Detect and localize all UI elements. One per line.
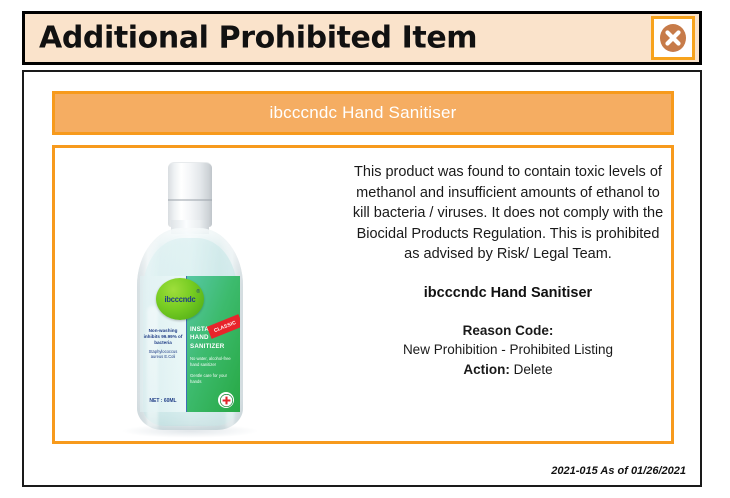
label-net-volume: NET : 60ML	[142, 398, 184, 405]
action-value: Delete	[514, 362, 553, 377]
details-column: This product was found to contain toxic …	[351, 162, 665, 380]
close-circle-x-icon	[658, 23, 688, 53]
label-claim-sub: Staphylococcus aureus E.Coli	[142, 349, 184, 360]
brand-logo-text: ibcccndc	[165, 294, 196, 303]
brand-logo-icon: ibcccndc ®	[156, 278, 204, 320]
medical-cross-icon	[218, 392, 234, 408]
sanitizer-bottle-illustration: ibcccndc ® Non-washing inhibits 99.99% o…	[137, 162, 243, 430]
product-title-banner: ibcccndc Hand Sanitiser	[52, 91, 674, 135]
action-label: Action:	[463, 362, 510, 377]
bottle-body: ibcccndc ® Non-washing inhibits 99.99% o…	[137, 228, 243, 430]
registered-mark: ®	[196, 289, 200, 295]
label-product-sub2: Gentle care for your hands	[190, 373, 238, 385]
label-claim-main: Non-washing inhibits 99.99% of bacteria	[144, 328, 183, 345]
description-text: This product was found to contain toxic …	[351, 162, 665, 265]
reason-block: Reason Code: New Prohibition - Prohibite…	[351, 321, 665, 380]
bottle-cap	[168, 162, 212, 227]
product-image: ibcccndc ® Non-washing inhibits 99.99% o…	[65, 156, 335, 438]
body-panel: ibcccndc ® Non-washing inhibits 99.99% o…	[52, 145, 674, 444]
prohibited-item-slide: Additional Prohibited Item ibcccndc Hand…	[0, 0, 730, 498]
detail-product-name: ibcccndc Hand Sanitiser	[351, 285, 665, 301]
product-title-label: ibcccndc Hand Sanitiser	[270, 103, 457, 123]
bottle-shadow	[121, 424, 259, 438]
bottle-label: ibcccndc ® Non-washing inhibits 99.99% o…	[140, 276, 240, 412]
reason-code-value: New Prohibition - Prohibited Listing	[403, 342, 613, 357]
label-claim-text: Non-washing inhibits 99.99% of bacteria …	[142, 328, 184, 360]
page-title: Additional Prohibited Item	[39, 21, 477, 56]
reason-code-label: Reason Code:	[463, 323, 554, 338]
close-button[interactable]	[651, 16, 695, 60]
label-product-sub1: No water, alcohol-free hand sanitizer	[190, 356, 238, 368]
footer-reference: 2021-015 As of 01/26/2021	[551, 465, 686, 477]
header-bar: Additional Prohibited Item	[22, 11, 702, 65]
content-frame: ibcccndc Hand Sanitiser	[22, 70, 702, 487]
